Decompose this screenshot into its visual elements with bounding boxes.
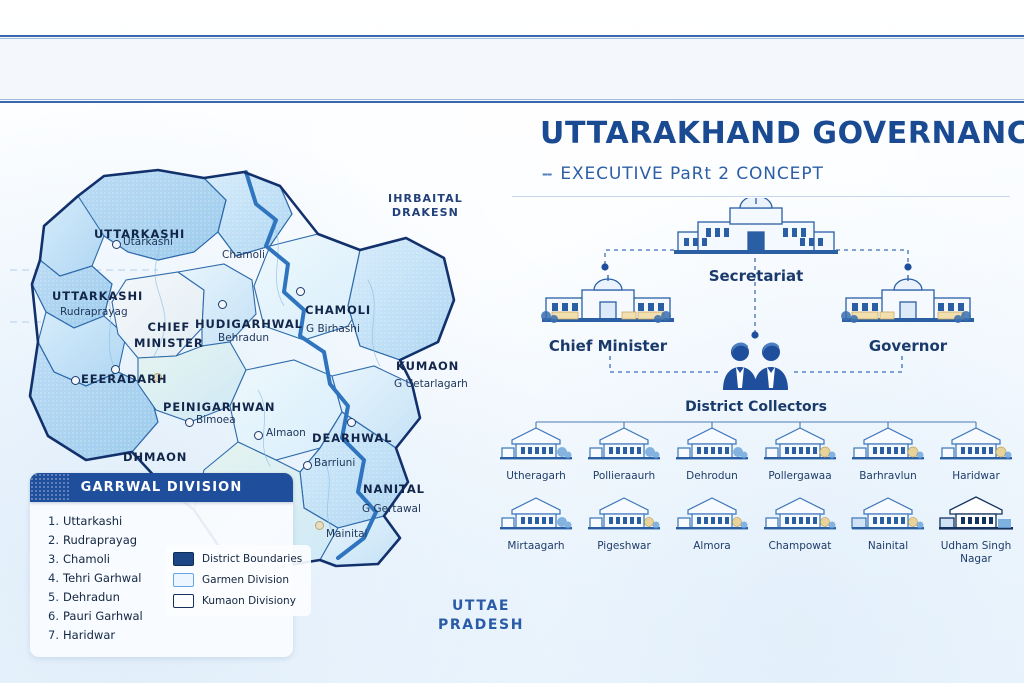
key-row-kumaon-division[interactable]: Kumaon Divisiony bbox=[173, 594, 303, 608]
district-office-pigeshwar[interactable]: Pigeshwar bbox=[580, 494, 668, 565]
swatch-icon-garmen-division bbox=[173, 573, 194, 587]
org-label-chief-minister: Chief Minister bbox=[538, 337, 678, 355]
district-office-dehrodun[interactable]: Dehrodun bbox=[668, 424, 756, 482]
city-dot-dearhwal bbox=[347, 418, 356, 427]
connector-dot-center bbox=[751, 331, 758, 338]
district-office-icon bbox=[674, 494, 750, 534]
district-office-icon bbox=[674, 424, 750, 464]
district-office-icon bbox=[938, 424, 1014, 464]
district-office-udham-singh-nagar[interactable]: Udham Singh Nagar bbox=[932, 494, 1020, 565]
city-dot-utarkashi bbox=[112, 240, 121, 249]
district-label: Dehrodun bbox=[668, 470, 756, 482]
district-office-champowat[interactable]: Champowat bbox=[756, 494, 844, 565]
district-office-icon bbox=[498, 424, 574, 464]
district-name: Pauri Garhwal bbox=[63, 609, 143, 623]
org-node-chief-minister[interactable]: Chief Minister bbox=[538, 274, 678, 355]
city-dot-almaon bbox=[254, 431, 263, 440]
page-title: UTTARAKHAND GOVERNANCE bbox=[540, 118, 1010, 150]
city-dot-mainital bbox=[315, 521, 324, 530]
district-label: Almora bbox=[668, 540, 756, 552]
district-label: Pollieraaurh bbox=[580, 470, 668, 482]
district-office-pollergawaa[interactable]: Pollergawaa bbox=[756, 424, 844, 482]
district-office-icon bbox=[850, 494, 926, 534]
district-label: Pigeshwar bbox=[580, 540, 668, 552]
key-label: Garmen Division bbox=[202, 574, 289, 586]
top-decorative-band bbox=[0, 35, 1024, 103]
district-office-icon bbox=[762, 494, 838, 534]
list-number: 3. bbox=[48, 550, 63, 569]
key-label: District Boundaries bbox=[202, 553, 302, 565]
district-office-pollieraaurh[interactable]: Pollieraaurh bbox=[580, 424, 668, 482]
subtitle-dash-icon: -- bbox=[542, 164, 551, 184]
district-office-icon bbox=[938, 494, 1014, 534]
city-dot-bimoea bbox=[185, 418, 194, 427]
district-name: Uttarkashi bbox=[63, 514, 122, 528]
list-number: 4. bbox=[48, 569, 63, 588]
district-office-nainital[interactable]: Nainital bbox=[844, 494, 932, 565]
city-dot-barriuni bbox=[303, 461, 312, 470]
swatch-icon-district-boundaries bbox=[173, 552, 194, 566]
secretariat-building-icon bbox=[668, 198, 844, 260]
city-dot-chamoli bbox=[296, 287, 305, 296]
city-dot-tehri bbox=[153, 373, 162, 382]
page-subtitle: EXECUTIVE PaRt 2 CONCEPT bbox=[560, 164, 823, 184]
district-label: Pollergawaa bbox=[756, 470, 844, 482]
title-divider-rule bbox=[512, 196, 1010, 197]
org-node-governor[interactable]: Governor bbox=[838, 274, 978, 355]
list-number: 6. bbox=[48, 607, 63, 626]
org-label-district-collectors: District Collectors bbox=[685, 399, 827, 415]
map-key: District Boundaries Garmen Division Kuma… bbox=[165, 545, 311, 616]
list-number: 5. bbox=[48, 588, 63, 607]
district-label: Champowat bbox=[756, 540, 844, 552]
district-name: Dehradun bbox=[63, 590, 120, 604]
org-node-secretariat[interactable]: Secretariat bbox=[668, 198, 844, 285]
district-office-icon bbox=[586, 424, 662, 464]
district-label: Udham Singh Nagar bbox=[932, 540, 1020, 565]
district-office-almora[interactable]: Almora bbox=[668, 494, 756, 565]
district-label: Mirtaagarh bbox=[492, 540, 580, 552]
key-row-garmen-division[interactable]: Garmen Division bbox=[173, 573, 303, 587]
district-office-utheragarh[interactable]: Utheragarh bbox=[492, 424, 580, 482]
district-label: Utheragarh bbox=[492, 470, 580, 482]
key-row-district-boundaries[interactable]: District Boundaries bbox=[173, 552, 303, 566]
district-office-icon bbox=[498, 494, 574, 534]
legend-header: GARRWAL DIVISION bbox=[30, 473, 293, 502]
governor-building-icon bbox=[838, 274, 978, 330]
infographic-canvas: UTTARAKHAND GOVERNANCE -- EXECUTIVE PaRt… bbox=[0, 0, 1024, 683]
district-name: Chamoli bbox=[63, 552, 110, 566]
district-office-icon bbox=[850, 424, 926, 464]
district-name: Rudraprayag bbox=[63, 533, 137, 547]
list-item[interactable]: 1.Uttarkashi bbox=[48, 512, 293, 531]
org-node-district-collectors[interactable]: District Collectors bbox=[685, 340, 827, 415]
list-number: 2. bbox=[48, 531, 63, 550]
chief-minister-building-icon bbox=[538, 274, 678, 330]
district-offices-grid: Utheragarh Pollieraaurh Dehrodun Pollerg… bbox=[492, 424, 1020, 565]
city-dot-dehradun bbox=[111, 365, 120, 374]
district-name: Tehri Garhwal bbox=[63, 571, 141, 585]
district-office-haridwar[interactable]: Haridwar bbox=[932, 424, 1020, 482]
key-label: Kumaon Divisiony bbox=[202, 595, 296, 607]
district-office-icon bbox=[586, 494, 662, 534]
city-dot-eeeradarh bbox=[71, 376, 80, 385]
city-dot-behradun bbox=[218, 300, 227, 309]
org-label-governor: Governor bbox=[838, 337, 978, 355]
district-label: Nainital bbox=[844, 540, 932, 552]
district-label: Haridwar bbox=[932, 470, 1020, 482]
district-row-2: Mirtaagarh Pigeshwar Almora Champowat Na… bbox=[492, 494, 1020, 565]
connector-dot-right bbox=[904, 263, 911, 270]
district-label: Barhravlun bbox=[844, 470, 932, 482]
swatch-icon-kumaon-division bbox=[173, 594, 194, 608]
district-office-mirtaagarh[interactable]: Mirtaagarh bbox=[492, 494, 580, 565]
subtitle-row: -- EXECUTIVE PaRt 2 CONCEPT bbox=[542, 164, 1010, 184]
org-label-secretariat: Secretariat bbox=[668, 267, 844, 285]
list-number: 7. bbox=[48, 626, 63, 645]
governance-org-chart: Secretariat bbox=[490, 196, 1020, 426]
title-block: UTTARAKHAND GOVERNANCE -- EXECUTIVE PaRt… bbox=[540, 118, 1010, 184]
district-name: Haridwar bbox=[63, 628, 115, 642]
district-office-icon bbox=[762, 424, 838, 464]
district-office-barhravlun[interactable]: Barhravlun bbox=[844, 424, 932, 482]
list-number: 1. bbox=[48, 512, 63, 531]
district-row-1: Utheragarh Pollieraaurh Dehrodun Pollerg… bbox=[492, 424, 1020, 482]
district-collectors-people-icon bbox=[685, 340, 827, 392]
list-item[interactable]: 7.Haridwar bbox=[48, 626, 293, 645]
connector-dot-left bbox=[601, 263, 608, 270]
